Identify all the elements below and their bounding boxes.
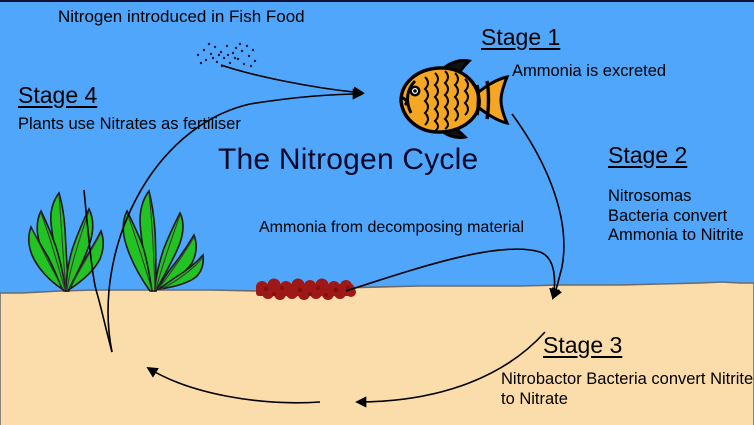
stage-4-heading: Stage 4 bbox=[18, 82, 97, 109]
top-caption: Nitrogen introduced in Fish Food bbox=[58, 7, 305, 27]
stage-4-body: Plants use Nitrates as fertiliser bbox=[18, 115, 241, 135]
seaweed-right-figure bbox=[108, 187, 208, 293]
stage-2-heading: Stage 2 bbox=[608, 142, 687, 169]
stage-1-body: Ammonia is excreted bbox=[512, 62, 666, 82]
stage-2-body: Nitrosomas Bacteria convert Ammonia to N… bbox=[608, 187, 754, 246]
fish-food-particles-figure bbox=[192, 42, 260, 70]
stage-3-body: Nitrobactor Bacteria convert Nitrite to … bbox=[501, 370, 754, 409]
stage-3-heading: Stage 3 bbox=[543, 332, 622, 359]
decomposing-material-figure bbox=[252, 278, 360, 300]
stage-1-heading: Stage 1 bbox=[481, 24, 560, 51]
fish-figure bbox=[391, 57, 513, 143]
decomposing-material-annotation: Ammonia from decomposing material bbox=[259, 218, 524, 237]
page-title: The Nitrogen Cycle bbox=[218, 143, 478, 177]
seaweed-left-figure bbox=[20, 185, 116, 293]
nitrogen-cycle-diagram: Nitrogen introduced in Fish Food The Nit… bbox=[0, 0, 754, 425]
